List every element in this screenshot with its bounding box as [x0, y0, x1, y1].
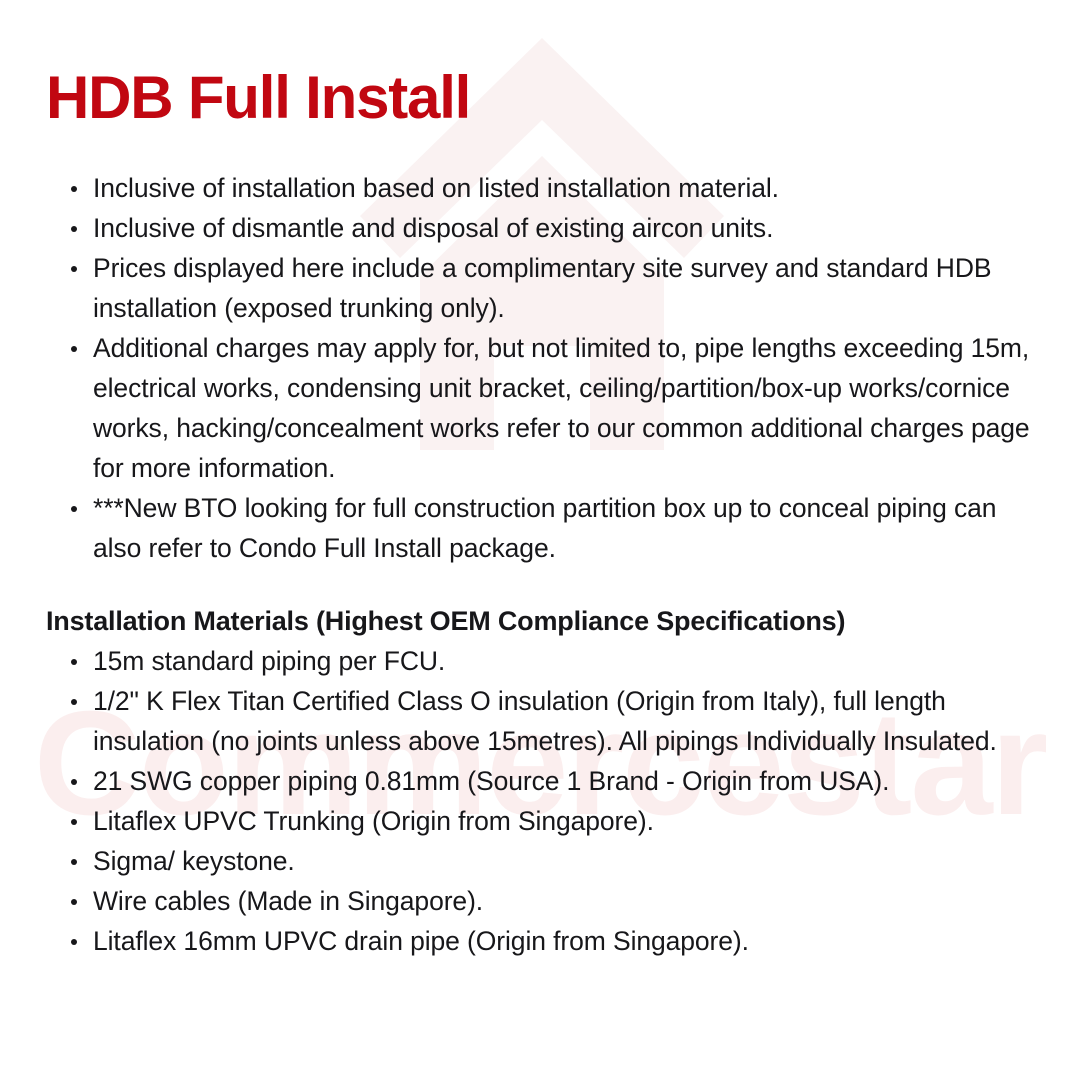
body-block: Inclusive of installation based on liste… — [46, 168, 1038, 961]
list-item: Inclusive of dismantle and disposal of e… — [46, 208, 1038, 248]
list-item: Wire cables (Made in Singapore). — [46, 881, 1038, 921]
list-item: Sigma/ keystone. — [46, 841, 1038, 881]
list-item: Additional charges may apply for, but no… — [46, 328, 1038, 488]
list-item: ***New BTO looking for full construction… — [46, 488, 1038, 568]
materials-bullet-list: 15m standard piping per FCU. 1/2" K Flex… — [46, 641, 1038, 961]
section-spacer — [46, 568, 1038, 601]
list-item: Litaflex 16mm UPVC drain pipe (Origin fr… — [46, 921, 1038, 961]
list-item: Inclusive of installation based on liste… — [46, 168, 1038, 208]
materials-section-heading: Installation Materials (Highest OEM Comp… — [46, 601, 1038, 641]
list-item: 21 SWG copper piping 0.81mm (Source 1 Br… — [46, 761, 1038, 801]
list-item: Litaflex UPVC Trunking (Origin from Sing… — [46, 801, 1038, 841]
intro-bullet-list: Inclusive of installation based on liste… — [46, 168, 1038, 568]
page-title: HDB Full Install — [46, 68, 470, 128]
list-item: Prices displayed here include a complime… — [46, 248, 1038, 328]
page-root: Commercestar HDB Full Install Inclusive … — [0, 0, 1080, 1080]
list-item: 1/2" K Flex Titan Certified Class O insu… — [46, 681, 1038, 761]
list-item: 15m standard piping per FCU. — [46, 641, 1038, 681]
